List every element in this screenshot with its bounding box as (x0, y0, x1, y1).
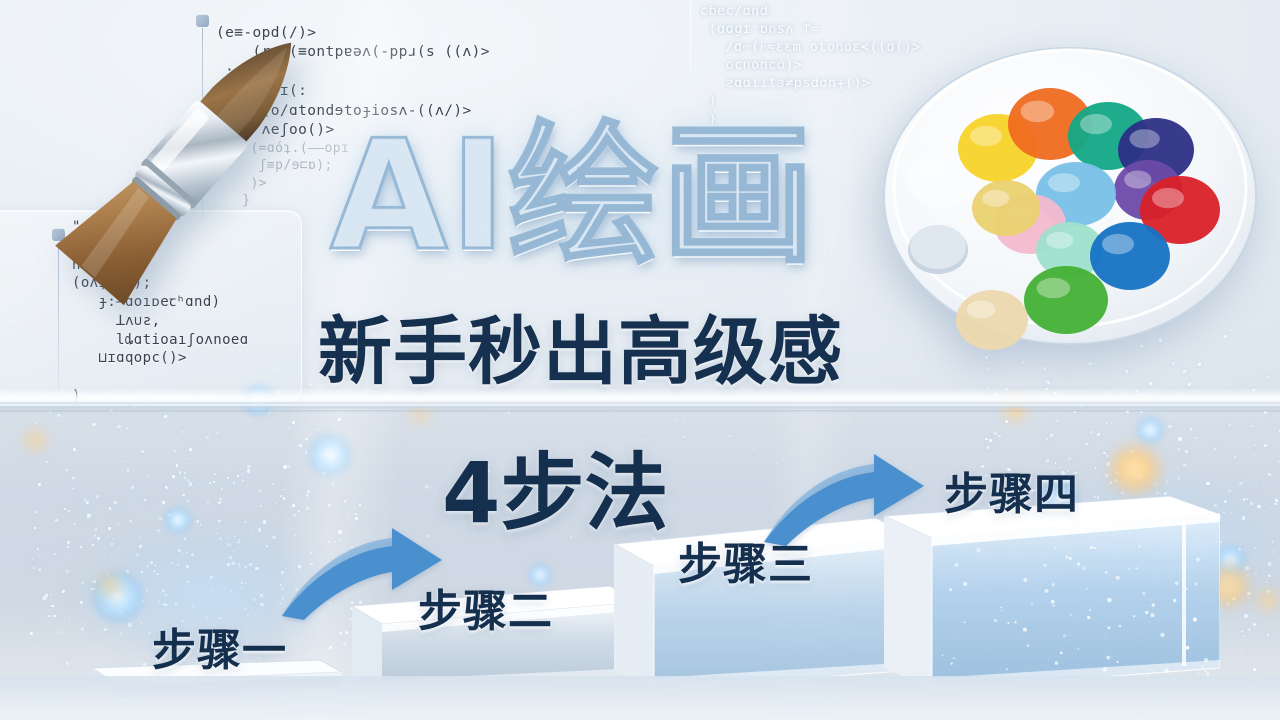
glass-box-particle (1164, 668, 1168, 672)
glass-box-particle (1077, 562, 1080, 565)
glass-box-particle (1007, 622, 1009, 624)
glass-box-particle (1001, 610, 1003, 612)
glass-box-particle (1070, 614, 1072, 616)
glass-box-particle (1107, 598, 1112, 603)
glass-box-particle (1197, 672, 1199, 674)
glass-box-particle (1108, 626, 1111, 629)
cream-paint-highlight (967, 301, 996, 319)
paint-palette (880, 28, 1280, 378)
glass-box-particle (953, 657, 955, 659)
glass-box-particle (1031, 603, 1033, 605)
orange-paint-highlight (1021, 101, 1055, 123)
glass-box-particle (1119, 625, 1122, 628)
floor-reflection (0, 676, 1280, 720)
glass-box-particle (976, 548, 981, 553)
glass-box-particle (1089, 609, 1091, 611)
glass-box-particle (1201, 666, 1203, 668)
glass-box-particle (1185, 588, 1188, 591)
step-label-3: 步骤三 (678, 528, 813, 592)
glass-box-particle (1106, 656, 1110, 660)
glass-box-particle (1083, 566, 1087, 570)
glass-box-particle (1193, 617, 1197, 621)
glass-box-particle (1173, 599, 1176, 602)
step-label-2: 步骤二 (418, 575, 553, 639)
glass-box-particle (1060, 651, 1063, 654)
white-paint-highlight (918, 159, 945, 177)
glass-box-particle (1135, 567, 1137, 569)
paintbrush (46, 8, 376, 338)
glass-box-particle (1023, 628, 1027, 632)
green-paint (1024, 266, 1108, 334)
glass-box-particle (1138, 545, 1141, 548)
glass-box-particle (1051, 600, 1055, 604)
glass-box-particle (1133, 615, 1135, 617)
glass-box-particle (1129, 568, 1131, 570)
glass-box-particle (1160, 633, 1164, 637)
title-ai-painting-text: AI绘画 (330, 112, 890, 280)
glass-box-particle (1196, 557, 1200, 561)
panel-guide-line-right (690, 2, 691, 114)
glass-box-particle (1150, 613, 1154, 617)
purple-paint-highlight (1124, 171, 1151, 189)
glass-box-particle (1023, 578, 1027, 582)
palegold-paint-highlight (982, 190, 1009, 207)
glass-box-particle (1105, 637, 1106, 638)
glass-box-particle (1069, 557, 1072, 560)
blue-paint-highlight (1102, 234, 1134, 254)
glass-box-particle (1205, 670, 1207, 672)
glass-box-particle (1044, 564, 1047, 567)
glass-box-particle (1103, 667, 1108, 672)
glass-box-particle (1116, 576, 1120, 580)
title-ai-painting: AI绘画 (330, 112, 890, 287)
glass-box-particle (994, 619, 997, 622)
glass-box-particle (1045, 589, 1049, 593)
glass-box-particle (1093, 547, 1095, 549)
glass-box-particle (1194, 582, 1197, 585)
glass-box-particle (1052, 604, 1055, 607)
subtitle-text: 新手秒出高级感 (318, 292, 843, 399)
glass-box-particle (1065, 556, 1068, 559)
poster-canvas: " paaɕ_/⊥ nɐet, (oʌʇ(ʃ/); ɟ:—ɑoıᴅeꞇʰɑnd)… (0, 0, 1280, 720)
glass-box-particle (1116, 661, 1118, 663)
glass-box-particle (949, 588, 952, 591)
red-paint-highlight (1152, 188, 1184, 208)
glass-box-particle (1014, 621, 1016, 623)
step-label-1: 步骤一 (152, 614, 287, 678)
glass-box-particle (963, 582, 967, 586)
glass-box-particle (955, 563, 959, 567)
glass-box-particle (1087, 616, 1090, 619)
glass-box-particle (1054, 547, 1056, 549)
mint-paint-highlight (1046, 232, 1073, 249)
step-label-4: 步骤四 (944, 458, 1079, 522)
glass-box-particle (1152, 603, 1155, 606)
glass-box-particle (1090, 546, 1093, 549)
lightblue-paint-highlight (1048, 173, 1080, 192)
blue-paint (1090, 222, 1170, 290)
glass-box-particle (1175, 581, 1179, 585)
glass-box-particle (1077, 648, 1079, 650)
glass-box-particle (1006, 668, 1008, 670)
yellow-paint-highlight (970, 126, 1002, 146)
glass-box-particle (1052, 583, 1055, 586)
cream-paint (956, 290, 1028, 350)
glass-box-particle (1142, 592, 1145, 595)
glass-box-particle (1001, 607, 1003, 609)
green-paint-highlight (1037, 278, 1071, 298)
glass-box-particle (1087, 588, 1088, 589)
glass-box-particle (950, 663, 952, 665)
glass-box-particle (1145, 611, 1148, 614)
glass-divider-highlight (0, 404, 1280, 408)
glass-box-particle (1204, 658, 1208, 662)
glass-box-particle (1055, 661, 1059, 665)
glass-box-particle (941, 654, 943, 656)
headline-four-steps: 4步法 (442, 426, 668, 547)
glass-box-particle (1105, 571, 1108, 574)
glass-box-particle (1063, 634, 1066, 637)
palegold-paint (972, 180, 1040, 236)
navy-paint-highlight (1129, 129, 1159, 148)
glass-box-particle (1186, 646, 1190, 650)
glass-box-particle (1027, 644, 1030, 647)
glass-box-particle (963, 621, 965, 623)
teal-paint-highlight (1080, 114, 1112, 134)
